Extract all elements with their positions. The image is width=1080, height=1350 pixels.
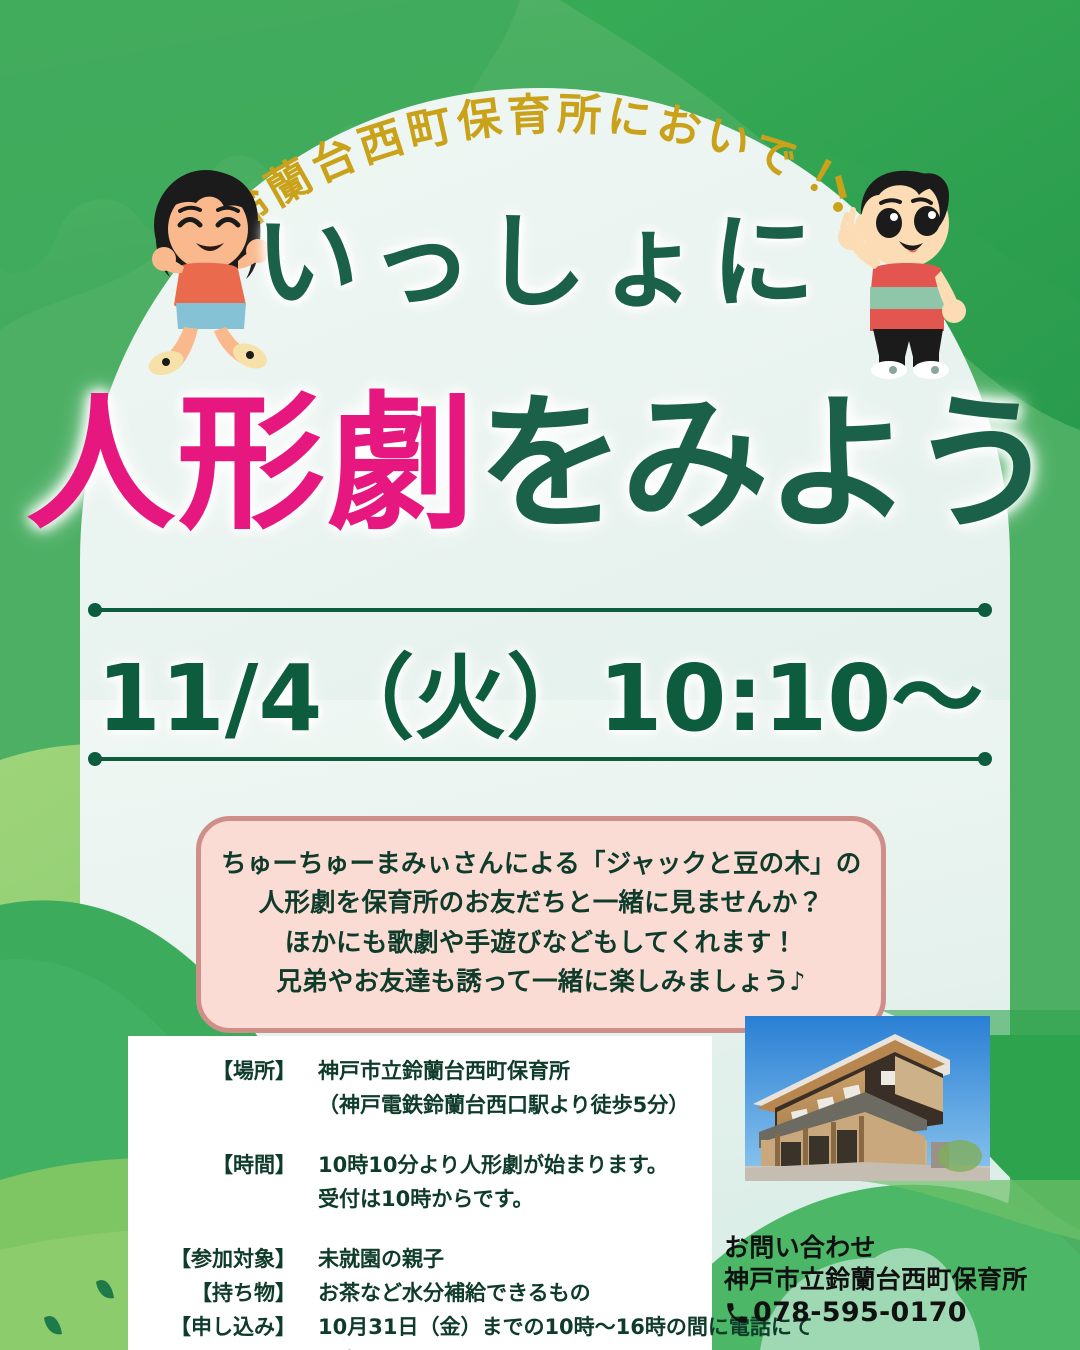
divider-bar [95,608,985,612]
detail-value-line: 神戸市立鈴蘭台西町保育所 [318,1054,698,1088]
detail-row-bring: 【持ち物】 お茶など水分補給できるもの [146,1276,698,1310]
detail-value: お茶など水分補給できるもの [296,1276,698,1310]
detail-label: 【場所】 [146,1054,296,1088]
detail-label: 【持ち物】 [146,1276,296,1310]
detail-label: 【時間】 [146,1148,296,1182]
contact-phone-row[interactable]: 078-595-0170 [724,1296,1074,1331]
detail-row-time: 【時間】 10時10分より人形劇が始まります。 受付は10時からです。 [146,1148,698,1216]
detail-value: 未就園の親子 [296,1242,698,1276]
detail-row-audience: 【参加対象】 未就園の親子 [146,1242,698,1276]
date-divider-top [88,603,992,617]
detail-value-line: （神戸電鉄鈴蘭台西口駅より徒歩5分） [318,1088,698,1122]
description-box: ちゅーちゅーまみぃさんによる「ジャックと豆の木」の 人形劇を保育所のお友だちと一… [196,816,886,1033]
description-line: ほかにも歌劇や手遊びなどもしてくれます！ [221,924,861,963]
contact-phone-number: 078-595-0170 [753,1296,967,1331]
detail-label: 【参加対象】 [146,1242,296,1276]
description-line: ちゅーちゅーまみぃさんによる「ジャックと豆の木」の [221,845,861,884]
contact-heading: お問い合わせ [724,1232,1074,1264]
detail-value: 神戸市立鈴蘭台西町保育所 （神戸電鉄鈴蘭台西口駅より徒歩5分） [296,1054,698,1122]
phone-icon [724,1300,750,1326]
divider-dot-right [978,603,992,617]
nursery-building-photo [745,1016,990,1181]
event-details-box: 【場所】 神戸市立鈴蘭台西町保育所 （神戸電鉄鈴蘭台西口駅より徒歩5分） 【時間… [128,1036,712,1350]
detail-value-line: 10時10分より人形劇が始まります。 [318,1148,698,1182]
poster-root: 鈴蘭台西町保育所においで！ [0,0,1080,1350]
detail-row-place: 【場所】 神戸市立鈴蘭台西町保育所 （神戸電鉄鈴蘭台西口駅より徒歩5分） [146,1054,698,1122]
divider-bar [95,757,985,761]
detail-value: 10時10分より人形劇が始まります。 受付は10時からです。 [296,1148,698,1216]
contact-organization: 神戸市立鈴蘭台西町保育所 [724,1264,1074,1296]
description-line: 人形劇を保育所のお友だちと一緒に見ませんか？ [221,884,861,923]
description-line: 兄弟やお友達も誘って一緒に楽しみましょう♪ [221,963,861,1002]
detail-value-line: 受付は10時からです。 [318,1182,698,1216]
title-pink-part: 人形劇 [27,378,477,550]
detail-value-line: お茶など水分補給できるもの [318,1276,698,1310]
contact-block: お問い合わせ 神戸市立鈴蘭台西町保育所 078-595-0170 [724,1232,1074,1331]
detail-value-line: 未就園の親子 [318,1242,698,1276]
detail-row-apply: 【申し込み】 10月31日（金）までの10時〜16時の間に電話にて お申し込みく… [146,1310,698,1350]
detail-spacer [146,1126,698,1148]
kicker-text: いっしょに [0,208,1080,317]
event-date-time: 11/4（火）10:10〜 [0,624,1080,757]
divider-dot-right [978,752,992,766]
page-title: 人形劇をみよう [0,390,1080,538]
detail-label: 【申し込み】 [146,1310,296,1344]
detail-value-line: お申し込みください。 [318,1344,813,1350]
date-divider-bottom [88,752,992,766]
title-green-part: をみよう [477,378,1053,550]
detail-spacer [146,1220,698,1242]
